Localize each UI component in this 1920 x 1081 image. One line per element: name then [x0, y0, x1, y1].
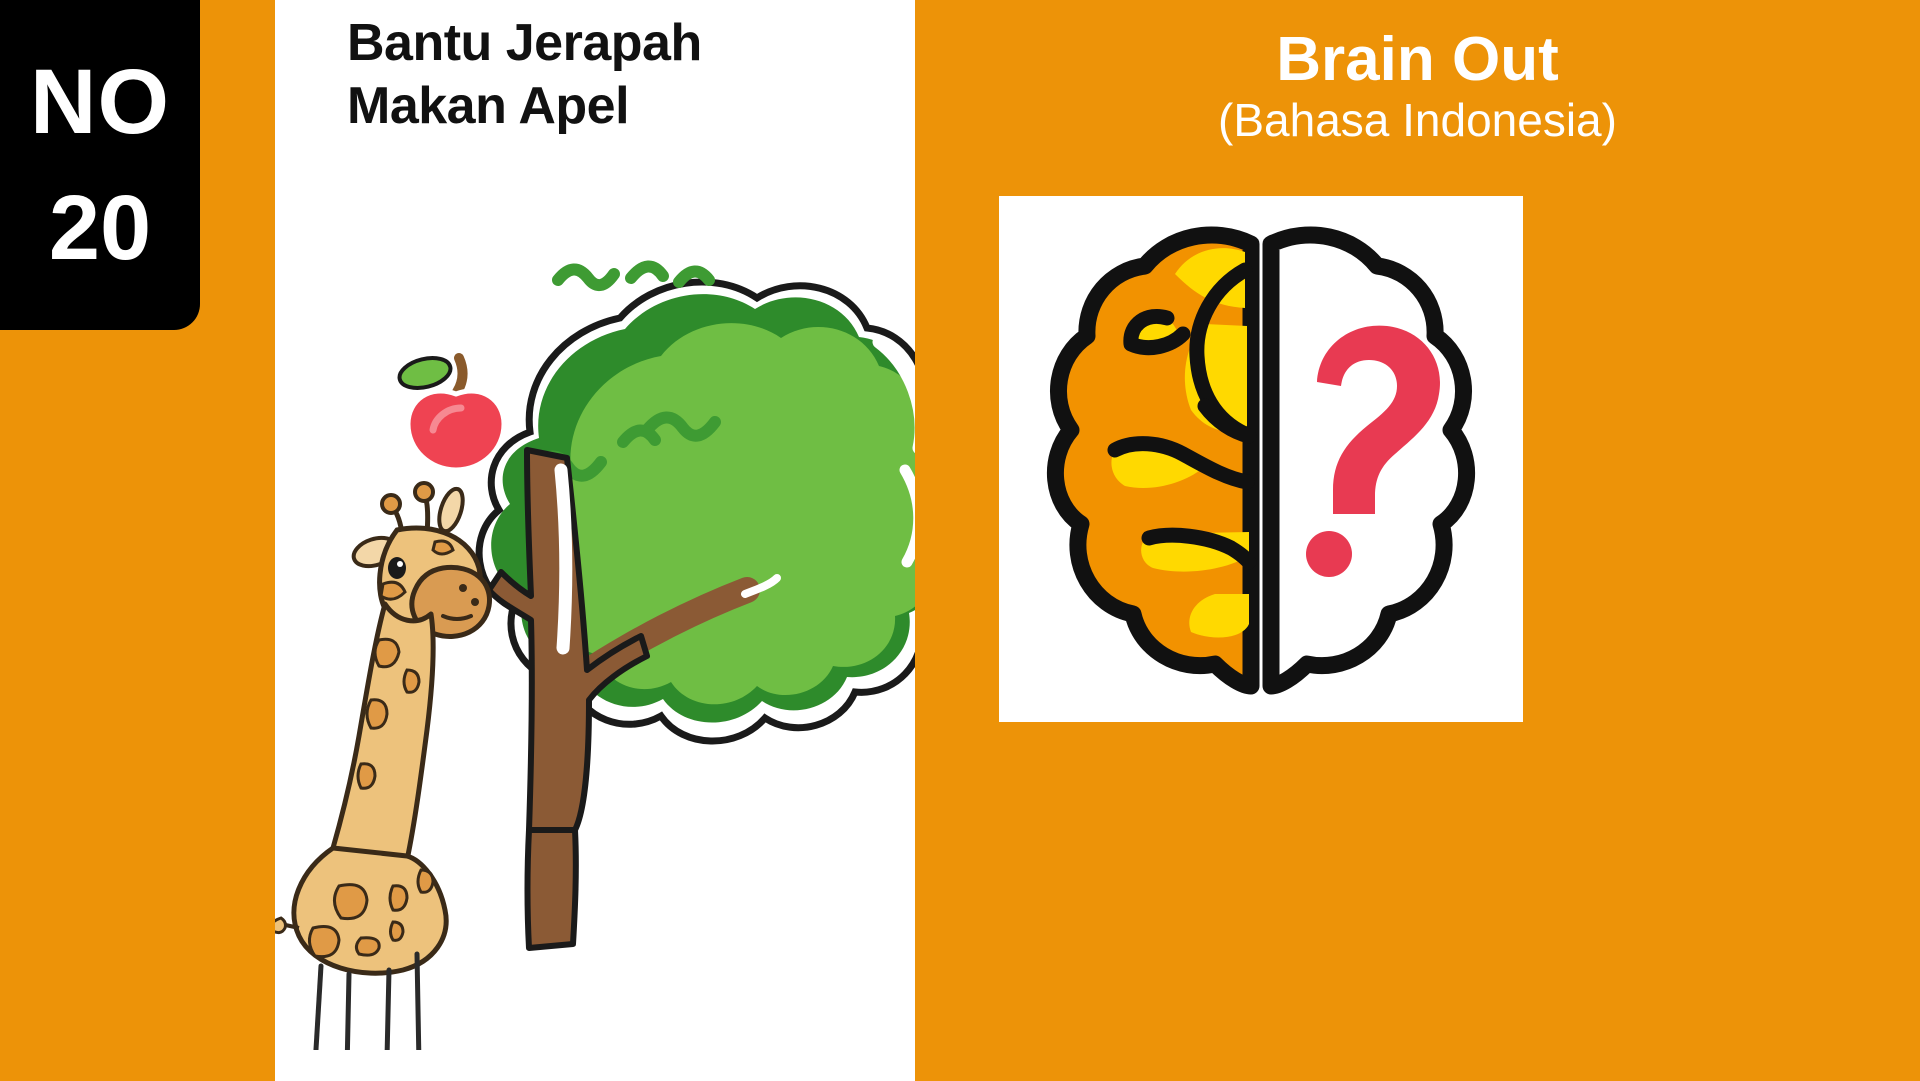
badge-number-value: 20	[49, 182, 151, 274]
puzzle-card: Bantu Jerapah Makan Apel	[275, 0, 915, 1081]
brain-logo-box	[999, 196, 1523, 722]
badge-no-label: NO	[30, 56, 170, 148]
question-number-badge: NO 20	[0, 0, 200, 330]
red-apple	[396, 353, 504, 470]
brand-heading: Brain Out (Bahasa Indonesia)	[915, 28, 1920, 147]
giraffe	[275, 483, 490, 1050]
brand-panel: Brain Out (Bahasa Indonesia)	[915, 0, 1920, 1081]
brand-language: (Bahasa Indonesia)	[915, 95, 1920, 147]
brand-name: Brain Out	[915, 28, 1920, 91]
brain-left-hemisphere-icon	[1055, 235, 1251, 686]
page-root: NO 20 Bantu Jerapah Makan Apel	[0, 0, 1920, 1081]
illustration-scene	[275, 170, 915, 1050]
page-title-line-2: Makan Apel	[347, 75, 887, 138]
page-title-line-1: Bantu Jerapah	[347, 12, 887, 75]
page-title: Bantu Jerapah Makan Apel	[347, 12, 887, 139]
